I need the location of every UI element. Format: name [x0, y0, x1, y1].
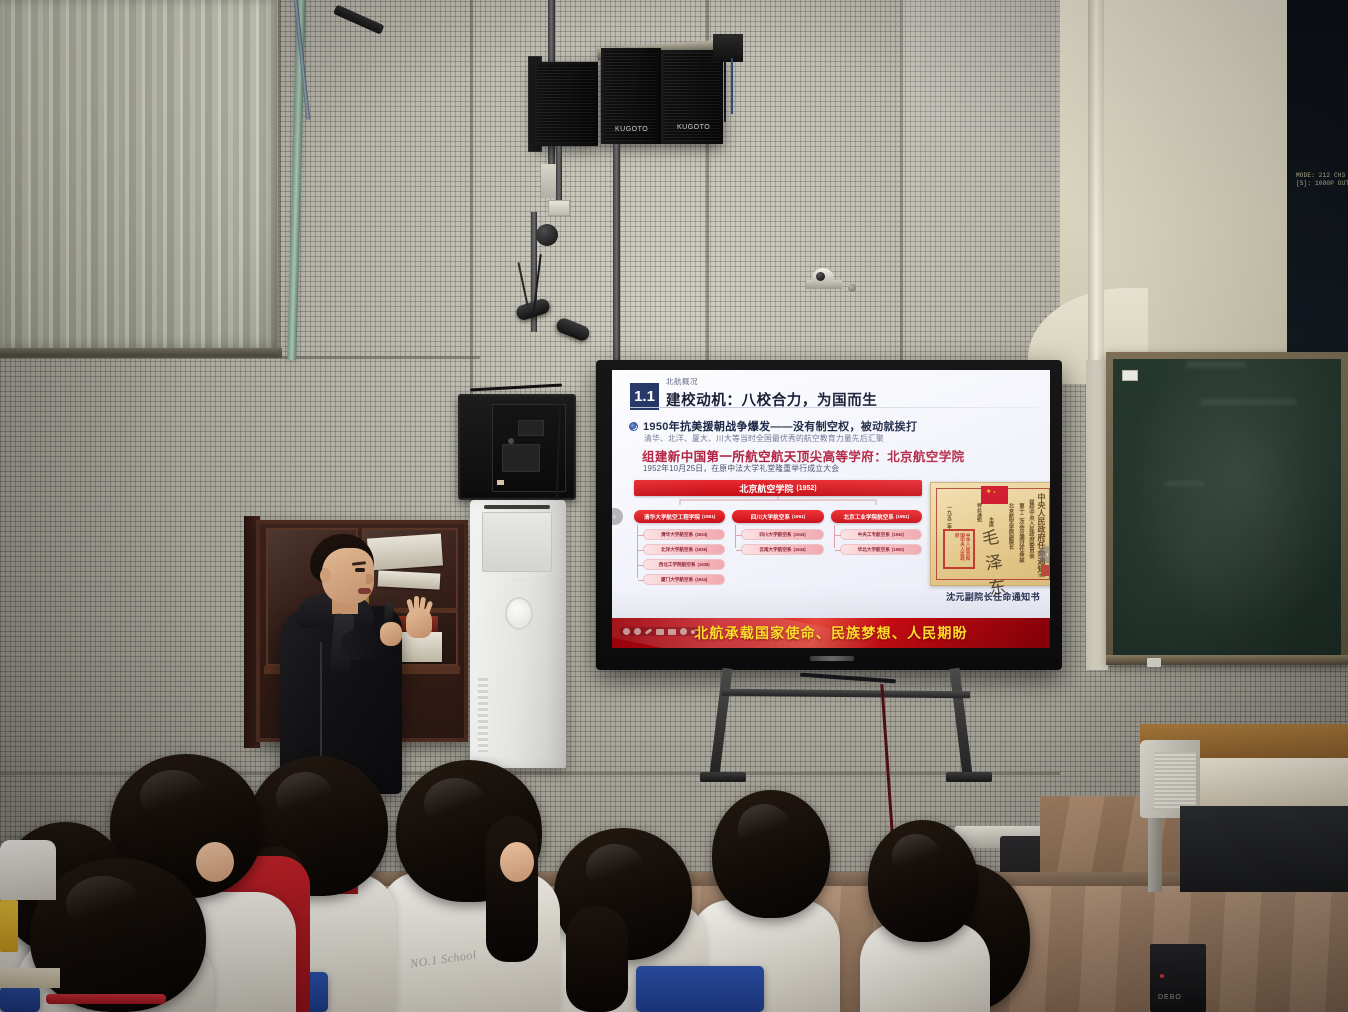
- eraser-icon[interactable]: [656, 629, 664, 635]
- bullet-main-text: 1950年抗美援朝战争爆发——没有制空权，被动就挨打: [643, 418, 917, 434]
- uniform-stripe: [0, 900, 18, 952]
- more-icon[interactable]: [691, 630, 695, 634]
- pen-icon[interactable]: [645, 628, 652, 634]
- org-leaf-name: 华北大学航空系: [858, 547, 890, 553]
- org-leaf: 北洋大学航空系 (1935): [643, 544, 725, 555]
- amplifier-brand-label: DEBO: [1158, 994, 1182, 1001]
- wall-left-of-board: [1086, 360, 1108, 670]
- slide-date-text: 1952年10月25日，在原中法大学礼堂隆重举行成立大会: [643, 463, 839, 474]
- org-root-name: 北京航空学院: [739, 482, 793, 495]
- org-leaf-year: (1935): [695, 547, 707, 552]
- presenter-eye: [355, 568, 365, 572]
- chalk-holder: [1147, 658, 1161, 667]
- speaker-brand-logo: KUGOTO: [615, 126, 647, 133]
- org-leaf: 华北大学航空系 (1950): [840, 544, 922, 555]
- podium-speaker-grille: [1154, 752, 1196, 810]
- cert-stamp: [1041, 565, 1050, 576]
- podium-leg: [1148, 818, 1162, 892]
- org-leaf-name: 西北工学院航空系: [659, 562, 696, 568]
- slide-bullet: 1950年抗美援朝战争爆发——没有制空权，被动就挨打: [629, 418, 917, 434]
- org-leaf: 四川大学航空系 (1944): [741, 529, 823, 540]
- slide-footer-banner: 北航承载国家使命、民族梦想、人民期盼: [612, 618, 1050, 648]
- presenter-mouth: [358, 588, 371, 594]
- org-leaf-list: 四川大学航空系 (1944) 云南大学航空系 (1944): [732, 529, 823, 555]
- wall-seam: [470, 0, 473, 400]
- cert-date: 一九五二年: [945, 505, 952, 529]
- equipment-window: [518, 420, 544, 436]
- presenter-gesturing-hand: [406, 608, 432, 638]
- ac-side-grille: [478, 678, 488, 752]
- laser-icon[interactable]: [634, 628, 641, 635]
- wall-bolt: [848, 284, 856, 292]
- wall-pillar: [1088, 0, 1104, 372]
- speaker-brand-logo: KUGOTO: [677, 124, 709, 131]
- org-leaf-year: (1944): [695, 577, 707, 582]
- slide-header: 1.1 北航概况 建校动机：八校合力，为国而生: [630, 376, 877, 410]
- org-leaf: 清华大学航空系 (1934): [643, 529, 725, 540]
- org-branch: 四川大学航空系 (1951) 四川大学航空系 (1944) 云: [732, 510, 823, 589]
- org-branch-year: (1951): [702, 514, 715, 519]
- chalk-tray: [1106, 655, 1348, 665]
- title-divider: [630, 407, 1038, 408]
- mic-capsule: [536, 224, 558, 246]
- osd-line-1: MODE: 212 CH3 A: [1296, 172, 1348, 179]
- org-branch-node: 四川大学航空系 (1951): [732, 510, 823, 523]
- presentation-slide: 1.1 北航概况 建校动机：八校合力，为国而生 1950年抗美援朝战争爆发——没…: [612, 370, 1050, 648]
- speaker-cable: [724, 58, 726, 122]
- org-leaf-list: 中央工专航空系 (1940) 华北大学航空系 (1950): [831, 529, 922, 555]
- portable-amplifier[interactable]: [1150, 944, 1206, 1012]
- speaker-wall-mount: [713, 34, 743, 62]
- ac-air-outlet: [484, 505, 550, 509]
- cert-column-3: 第十二次会议通过任命兹: [1017, 503, 1025, 573]
- presenter-hand-holding-mic: [380, 622, 402, 646]
- slide-next-button[interactable]: ‹: [1039, 546, 1050, 563]
- bullet-dot-icon: [629, 422, 638, 431]
- org-branch-node: 北京工业学院航空系 (1951): [831, 510, 922, 523]
- flag-star-icon: ★: [986, 489, 991, 495]
- org-branch: 北京工业学院航空系 (1951) 中央工专航空系 (1940): [831, 510, 922, 589]
- org-branch-year: (1951): [896, 514, 909, 519]
- podium-cabinet: [1180, 806, 1348, 892]
- section-number-badge: 1.1: [630, 383, 659, 410]
- org-leaf: 厦门大学航空系 (1944): [643, 574, 725, 585]
- org-branch-node: 清华大学航空工程学院 (1951): [634, 510, 725, 523]
- appointment-certificate-image: ★ ★ 中央人民政府任命通知书 兹经中央人民政府委员会 第十二次会议通过任命兹 …: [930, 482, 1050, 586]
- org-leaf-year: (1934): [695, 532, 707, 537]
- org-leaf-name: 云南大学航空系: [759, 547, 791, 553]
- org-leaf-name: 中央工专航空系: [858, 532, 890, 538]
- org-branch-name: 北京工业学院航空系: [844, 513, 894, 521]
- presenter-ear: [320, 568, 331, 583]
- org-root-node: 北京航空学院 (1952): [634, 480, 922, 496]
- org-leaf-year: (1944): [794, 547, 806, 552]
- uniform-collar-stripe: [46, 994, 166, 1004]
- cert-column-2: 兹经中央人民政府委员会: [1027, 499, 1035, 573]
- slide-prev-button[interactable]: ‹: [612, 508, 623, 525]
- ac-brand-label: · · · ·: [513, 578, 527, 584]
- equipment-window: [502, 444, 540, 472]
- wall-seam: [0, 356, 480, 359]
- display-stand-foot: [946, 772, 992, 782]
- org-leaf-year: (1938): [697, 562, 709, 567]
- display-brand-logo: [810, 656, 854, 661]
- amplifier-power-led-icon: [1160, 974, 1164, 978]
- student-hand: [196, 842, 234, 882]
- presenter-zipper: [320, 642, 322, 762]
- ac-vent-panel: [482, 512, 552, 572]
- org-leaf-name: 厦门大学航空系: [661, 577, 693, 583]
- wall-seam: [278, 0, 281, 356]
- stage-monitor-speaker: [534, 62, 598, 146]
- slide-subtext: 清华、北洋、厦大、川大等当时全国最优秀的航空教育力量先后汇聚: [644, 433, 884, 444]
- classroom-photo: MODE: 212 CH3 A [S]: 1080P OUT: KUGOTO K…: [0, 0, 1348, 1012]
- chalkboard-sticker: [1122, 370, 1138, 381]
- org-leaf-name: 清华大学航空系: [661, 532, 693, 538]
- student-hand: [500, 842, 534, 882]
- slide-kicker: 北航概况: [666, 376, 877, 387]
- chalkboard-surface: [1113, 359, 1341, 657]
- org-leaf: 中央工专航空系 (1940): [840, 529, 922, 540]
- government-seal: 中华人民共和国中央人民政府: [943, 529, 975, 569]
- org-chart-connectors: [634, 496, 922, 505]
- org-leaf-year: (1944): [794, 532, 806, 537]
- display-screen[interactable]: 1.1 北航概况 建校动机：八校合力，为国而生 1950年抗美援朝战争爆发——没…: [612, 370, 1050, 648]
- equipment-knob[interactable]: [508, 438, 514, 444]
- menu-icon[interactable]: [680, 628, 687, 635]
- interactive-flat-panel-display[interactable]: 1.1 北航概况 建校动机：八校合力，为国而生 1950年抗美援朝战争爆发——没…: [596, 360, 1062, 670]
- camera-lens-icon: [816, 272, 825, 281]
- window-curtain: [0, 0, 278, 355]
- org-leaf-name: 北洋大学航空系: [661, 547, 693, 553]
- org-leaf: 西北工学院航空系 (1938): [643, 559, 725, 570]
- banner-slogan: 北航承载国家使命、民族梦想、人民期盼: [694, 623, 968, 643]
- classroom-chair[interactable]: [0, 986, 40, 1012]
- slide-content-area: 1.1 北航概况 建校动机：八校合力，为国而生 1950年抗美援朝战争爆发——没…: [612, 370, 1050, 618]
- display-osd-text: MODE: 212 CH3 A [S]: 1080P OUT:: [1296, 172, 1348, 188]
- equipment-led-icon: [497, 480, 504, 485]
- org-leaf-list: 清华大学航空系 (1934) 北洋大学航空系 (1935) 西北工学院航空系: [634, 529, 725, 585]
- osd-line-2: [S]: 1080P OUT:: [1296, 180, 1348, 187]
- ac-control-dial[interactable]: [505, 597, 533, 630]
- chalkboard-frame: [1106, 352, 1348, 664]
- org-branch-name: 清华大学航空工程学院: [644, 513, 700, 521]
- speaker-support-pole: [613, 144, 620, 362]
- org-branch-year: (1951): [792, 514, 805, 519]
- pointer-icon[interactable]: [623, 628, 630, 635]
- org-leaf-name: 四川大学航空系: [759, 532, 791, 538]
- display-stand-foot: [700, 772, 746, 782]
- org-leaf-year: (1950): [892, 547, 904, 552]
- org-root-year: (1952): [796, 485, 816, 492]
- lecture-podium[interactable]: [1140, 706, 1348, 886]
- wall-plate: [548, 200, 570, 216]
- presentation-toolbar[interactable]: [619, 627, 699, 636]
- org-leaf-year: (1940): [892, 532, 904, 537]
- presenter: [276, 534, 426, 794]
- desk-edge: [0, 968, 60, 988]
- speaker-support-pole: [556, 146, 562, 200]
- speaker-cable: [731, 58, 733, 114]
- org-leaf: 云南大学航空系 (1944): [741, 544, 823, 555]
- classroom-chair[interactable]: [636, 966, 764, 1012]
- org-branch-name: 四川大学航空系: [751, 513, 790, 521]
- org-branch: 清华大学航空工程学院 (1951) 清华大学航空系 (1934): [634, 510, 725, 589]
- flag-small-star-icon: ★: [993, 491, 996, 494]
- slide-grid-icon[interactable]: [668, 629, 676, 635]
- certificate-figure: ★ ★ 中央人民政府任命通知书 兹经中央人民政府委员会 第十二次会议通过任命兹 …: [930, 482, 1050, 603]
